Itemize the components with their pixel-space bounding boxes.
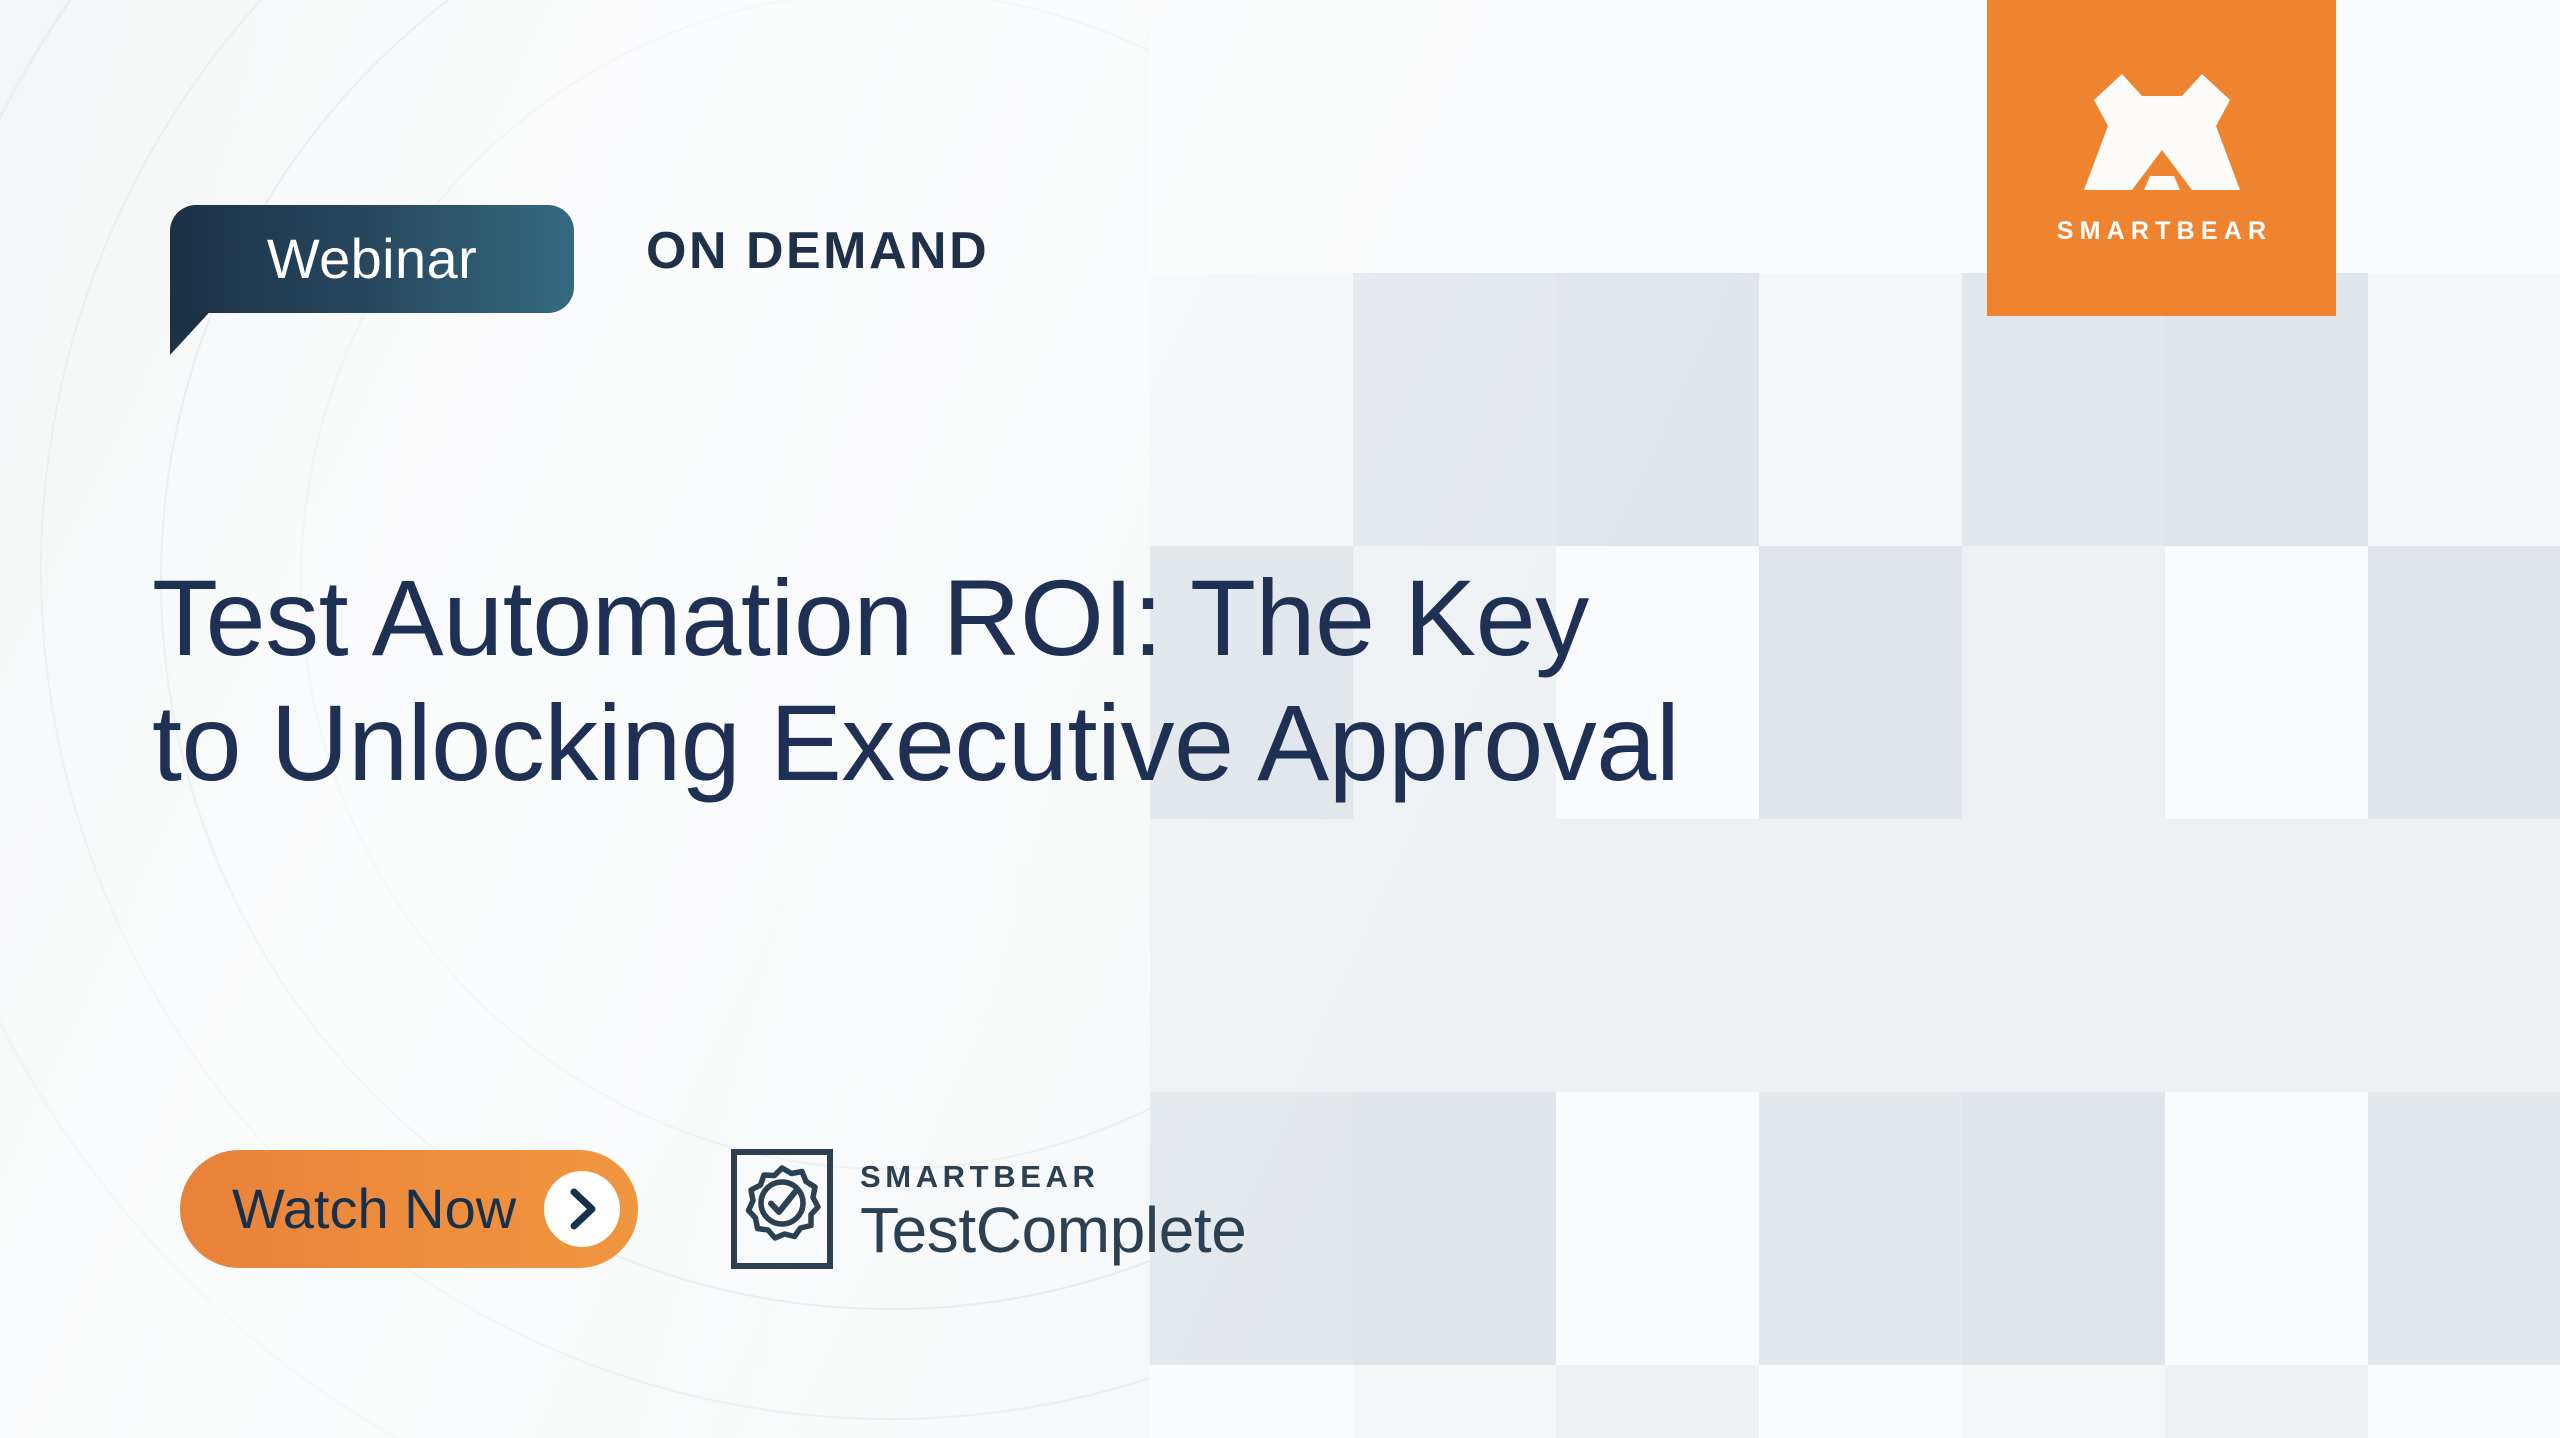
checker-cell [1556, 1092, 1759, 1365]
product-lockup: SMARTBEAR TestComplete [730, 1148, 1246, 1275]
checker-cell [2165, 1365, 2368, 1438]
checker-cell [2368, 0, 2560, 273]
watch-now-button[interactable]: Watch Now [180, 1150, 638, 1268]
page-title: Test Automation ROI: The Key to Unlockin… [152, 555, 2202, 806]
checker-cell [1556, 273, 1759, 546]
checker-cell [2368, 819, 2560, 1092]
checker-cell [1150, 273, 1353, 546]
checker-cell [1759, 273, 1962, 546]
testcomplete-badge-check-icon [730, 1148, 834, 1275]
checker-cell [1759, 1365, 1962, 1438]
smartbear-wordmark: SMARTBEAR [2051, 219, 2273, 244]
checker-cell [1353, 273, 1556, 546]
webinar-badge-label: Webinar [267, 231, 477, 287]
checker-cell [1353, 0, 1556, 273]
smartbear-logo: SMARTBEAR [1987, 0, 2336, 316]
checker-cell [2368, 546, 2560, 819]
checker-cell [2165, 819, 2368, 1092]
product-lockup-text: SMARTBEAR TestComplete [860, 1161, 1246, 1262]
checker-cell [2368, 273, 2560, 546]
checker-cell [1556, 1365, 1759, 1438]
checker-cell [1962, 1092, 2165, 1365]
on-demand-label: ON DEMAND [646, 225, 989, 277]
checker-cell [1556, 0, 1759, 273]
checker-cell [2368, 1092, 2560, 1365]
checker-cell [1962, 1365, 2165, 1438]
webinar-badge: Webinar [170, 205, 574, 317]
banner-canvas: Webinar ON DEMAND Test Automation ROI: T… [0, 0, 2560, 1438]
watch-now-label: Watch Now [232, 1181, 516, 1237]
lockup-product-label: TestComplete [860, 1198, 1246, 1262]
checker-cell [1150, 1365, 1353, 1438]
page-title-line-2: to Unlocking Executive Approval [152, 680, 2202, 805]
webinar-badge-body: Webinar [170, 205, 574, 313]
checker-cell [1759, 1092, 1962, 1365]
checker-cell [1150, 0, 1353, 273]
checker-cell [1759, 0, 1962, 273]
checker-cell [2368, 1365, 2560, 1438]
checker-cell [1759, 819, 1962, 1092]
checker-cell [1962, 819, 2165, 1092]
lockup-brand-label: SMARTBEAR [860, 1161, 1246, 1192]
checker-cell [1353, 819, 1556, 1092]
checker-cell [1353, 1092, 1556, 1365]
checker-cell [1353, 1365, 1556, 1438]
checker-cell [1556, 819, 1759, 1092]
checker-cell [2165, 1092, 2368, 1365]
chevron-right-icon [544, 1171, 620, 1247]
page-title-line-1: Test Automation ROI: The Key [152, 555, 2202, 680]
checker-cell [1150, 819, 1353, 1092]
smartbear-bear-icon [2064, 72, 2260, 205]
